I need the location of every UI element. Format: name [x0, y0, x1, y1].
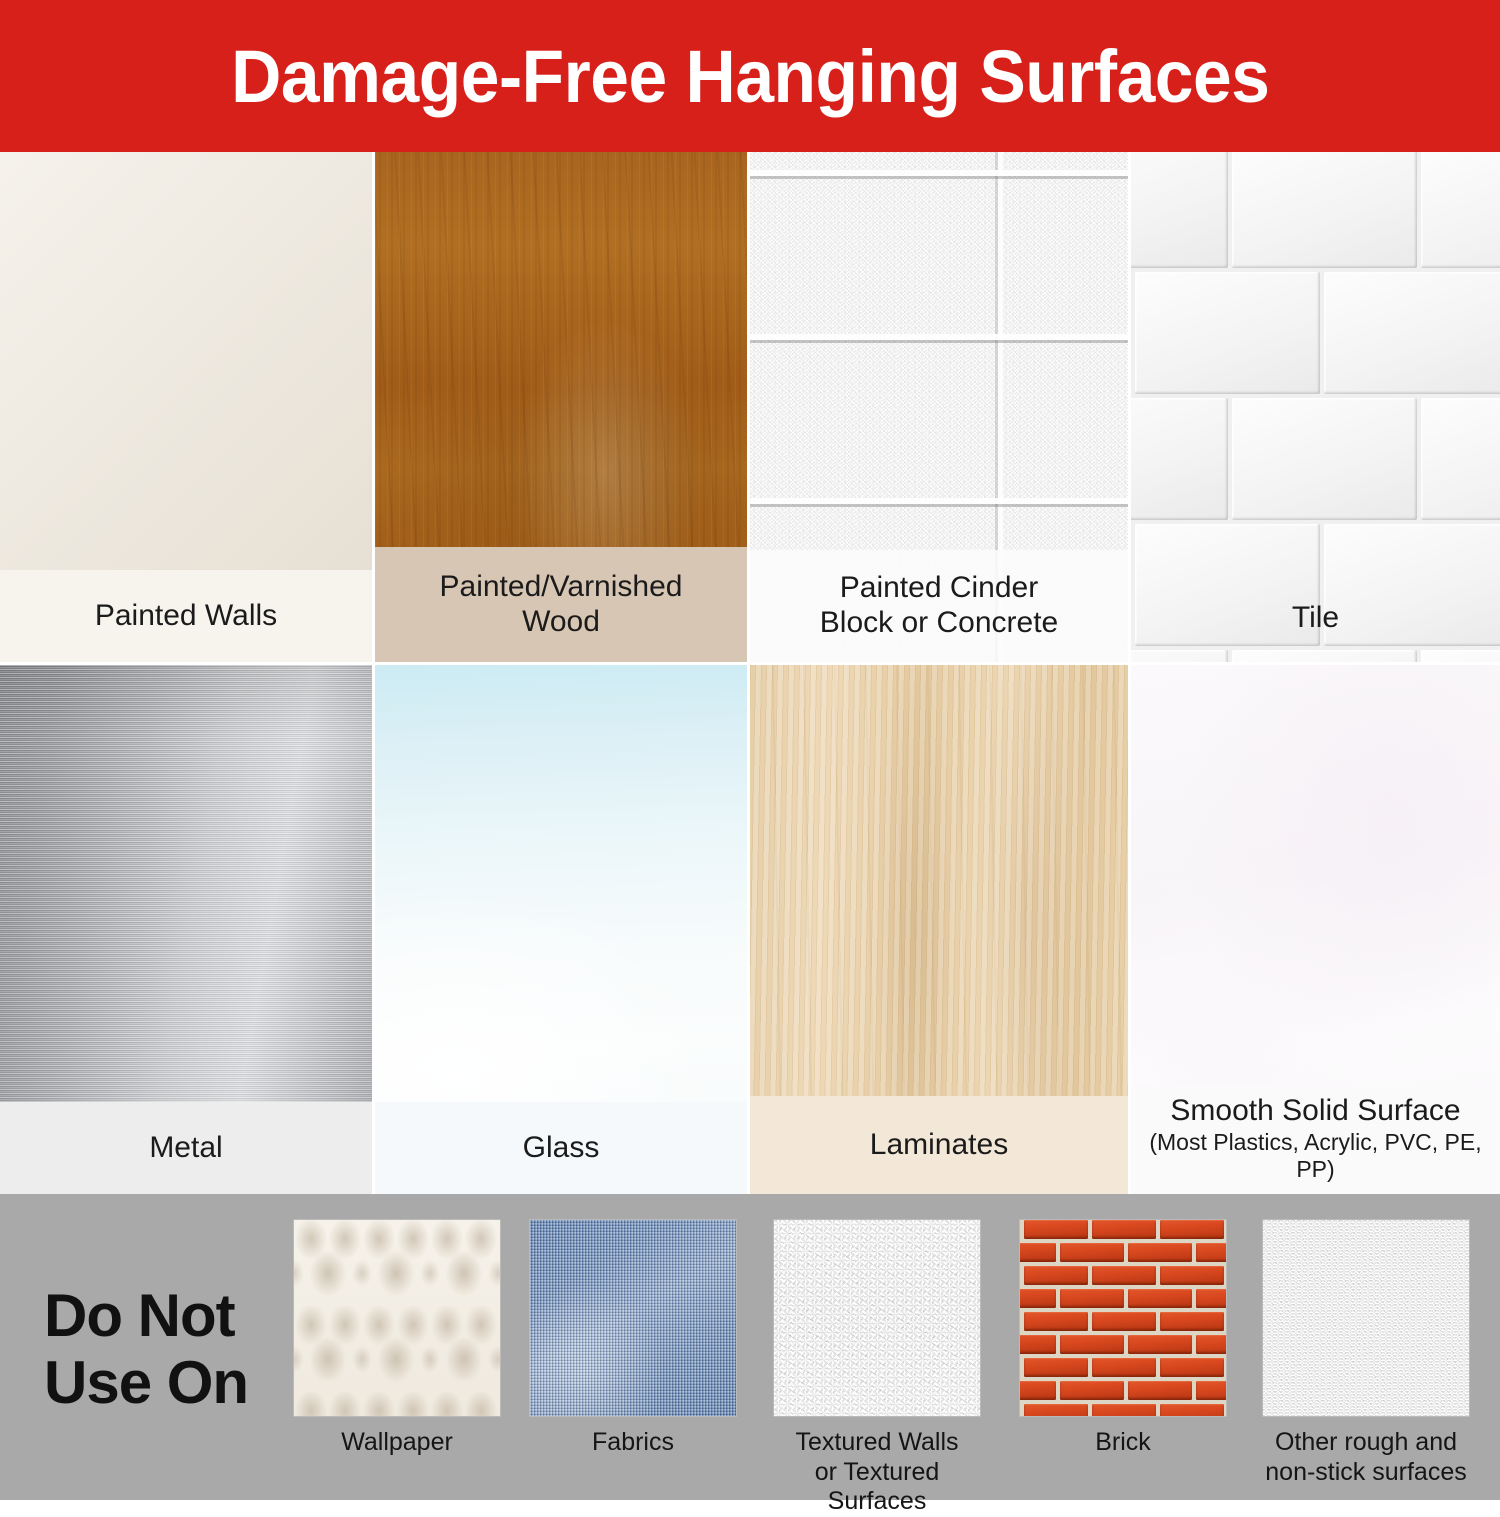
do-not-use-title-line1: Do Not [44, 1282, 248, 1349]
red-brick-texture [1020, 1220, 1226, 1416]
brick-unit [1060, 1335, 1124, 1354]
surface-caption: Painted/Varnished Wood [375, 547, 747, 662]
brick-unit [1060, 1289, 1124, 1308]
brick-unit [1196, 1243, 1226, 1262]
surface-label: Smooth Solid Surface [1170, 1094, 1460, 1129]
brick-unit [1024, 1358, 1088, 1377]
brick-unit [1024, 1220, 1088, 1239]
tile-unit [1232, 398, 1417, 520]
brick-unit [1092, 1404, 1156, 1416]
brick-unit [1160, 1266, 1224, 1285]
brick-unit [1092, 1358, 1156, 1377]
surface-caption: Laminates [750, 1096, 1128, 1194]
brick-unit [1024, 1266, 1088, 1285]
approved-surfaces-grid: Painted Walls Painted/Varnished Wood Pai… [0, 152, 1500, 1194]
brick-unit [1024, 1312, 1088, 1331]
do-not-use-caption: Wallpaper [294, 1428, 500, 1458]
do-not-use-title-line2: Use On [44, 1349, 248, 1416]
tile-unit [1421, 398, 1500, 520]
brick-unit [1092, 1220, 1156, 1239]
brick-unit [1128, 1381, 1192, 1400]
brick-unit [1128, 1243, 1192, 1262]
brick-unit [1196, 1381, 1226, 1400]
surface-label-sub: (Most Plastics, Acrylic, PVC, PE, PP) [1131, 1129, 1500, 1183]
caption-line1: Brick [1020, 1428, 1226, 1458]
surface-label: Laminates [870, 1128, 1008, 1163]
brick-unit [1020, 1381, 1056, 1400]
tile-unit [1131, 152, 1228, 268]
surface-caption: Glass [375, 1102, 747, 1194]
brick-unit [1160, 1358, 1224, 1377]
tile-unit [1421, 152, 1500, 268]
surface-card-painted-cinder[interactable]: Painted Cinder Block or Concrete [750, 152, 1128, 662]
surface-label: Painted Cinder [840, 571, 1038, 606]
surface-card-metal[interactable]: Metal [0, 665, 372, 1194]
brick-unit [1128, 1335, 1192, 1354]
surface-caption: Metal [0, 1102, 372, 1194]
brick-unit [1160, 1220, 1224, 1239]
do-not-use-item-other-rough[interactable]: Other rough and non-stick surfaces [1263, 1220, 1469, 1487]
tile-unit [1131, 398, 1228, 520]
surface-label: Painted/Varnished [440, 570, 683, 605]
surface-label: Metal [149, 1131, 222, 1166]
surface-caption: Painted Walls [0, 570, 372, 662]
brick-unit [1020, 1289, 1056, 1308]
surface-label: Tile [1292, 601, 1339, 636]
caption-line1: Fabrics [530, 1428, 736, 1458]
denim-fabric-texture [530, 1220, 736, 1416]
surface-label: Painted Walls [95, 599, 277, 634]
do-not-use-caption: Textured Walls or Textured Surfaces [774, 1428, 980, 1517]
brick-unit [1024, 1404, 1088, 1416]
surface-card-painted-wood[interactable]: Painted/Varnished Wood [375, 152, 747, 662]
caption-line1: Other rough and [1263, 1428, 1469, 1458]
do-not-use-caption: Other rough and non-stick surfaces [1263, 1428, 1469, 1487]
brick-unit [1060, 1243, 1124, 1262]
damask-wallpaper-texture [294, 1220, 500, 1416]
surface-caption: Tile [1131, 574, 1500, 662]
caption-line2: or Textured Surfaces [774, 1458, 980, 1517]
surface-card-glass[interactable]: Glass [375, 665, 747, 1194]
caption-line1: Textured Walls [774, 1428, 980, 1458]
surface-caption: Smooth Solid Surface (Most Plastics, Acr… [1131, 1084, 1500, 1194]
do-not-use-caption: Brick [1020, 1428, 1226, 1458]
surface-card-smooth-solid[interactable]: Smooth Solid Surface (Most Plastics, Acr… [1131, 665, 1500, 1194]
do-not-use-item-wallpaper[interactable]: Wallpaper [294, 1220, 500, 1458]
rough-stipple-texture [1263, 1220, 1469, 1416]
brick-unit [1020, 1335, 1056, 1354]
surface-label-line2: Block or Concrete [820, 606, 1058, 641]
do-not-use-item-fabrics[interactable]: Fabrics [530, 1220, 736, 1458]
surface-label: Glass [523, 1131, 600, 1166]
header-banner: Damage-Free Hanging Surfaces [0, 0, 1500, 152]
do-not-use-item-brick[interactable]: Brick [1020, 1220, 1226, 1458]
do-not-use-item-textured-walls[interactable]: Textured Walls or Textured Surfaces [774, 1220, 980, 1517]
surface-card-laminates[interactable]: Laminates [750, 665, 1128, 1194]
brick-unit [1092, 1312, 1156, 1331]
do-not-use-caption: Fabrics [530, 1428, 736, 1458]
infographic-page: Damage-Free Hanging Surfaces Painted Wal… [0, 0, 1500, 1500]
brick-unit [1128, 1289, 1192, 1308]
surface-card-tile[interactable]: Tile [1131, 152, 1500, 662]
surface-caption: Painted Cinder Block or Concrete [750, 550, 1128, 662]
do-not-use-title: Do Not Use On [44, 1282, 248, 1416]
do-not-use-section: Do Not Use On Wallpaper Fabrics Textured… [0, 1194, 1500, 1500]
brick-unit [1060, 1381, 1124, 1400]
caption-line1: Wallpaper [294, 1428, 500, 1458]
surface-card-painted-walls[interactable]: Painted Walls [0, 152, 372, 662]
tile-unit [1135, 272, 1320, 394]
tile-unit [1232, 152, 1417, 268]
caption-line2: non-stick surfaces [1263, 1458, 1469, 1488]
page-title: Damage-Free Hanging Surfaces [231, 34, 1269, 119]
tile-unit [1324, 272, 1500, 394]
textured-plaster-wall-texture [774, 1220, 980, 1416]
brick-unit [1160, 1404, 1224, 1416]
surface-label-line2: Wood [522, 605, 600, 640]
brick-unit [1160, 1312, 1224, 1331]
brick-unit [1196, 1335, 1226, 1354]
brick-unit [1196, 1289, 1226, 1308]
brick-unit [1092, 1266, 1156, 1285]
brick-unit [1020, 1243, 1056, 1262]
